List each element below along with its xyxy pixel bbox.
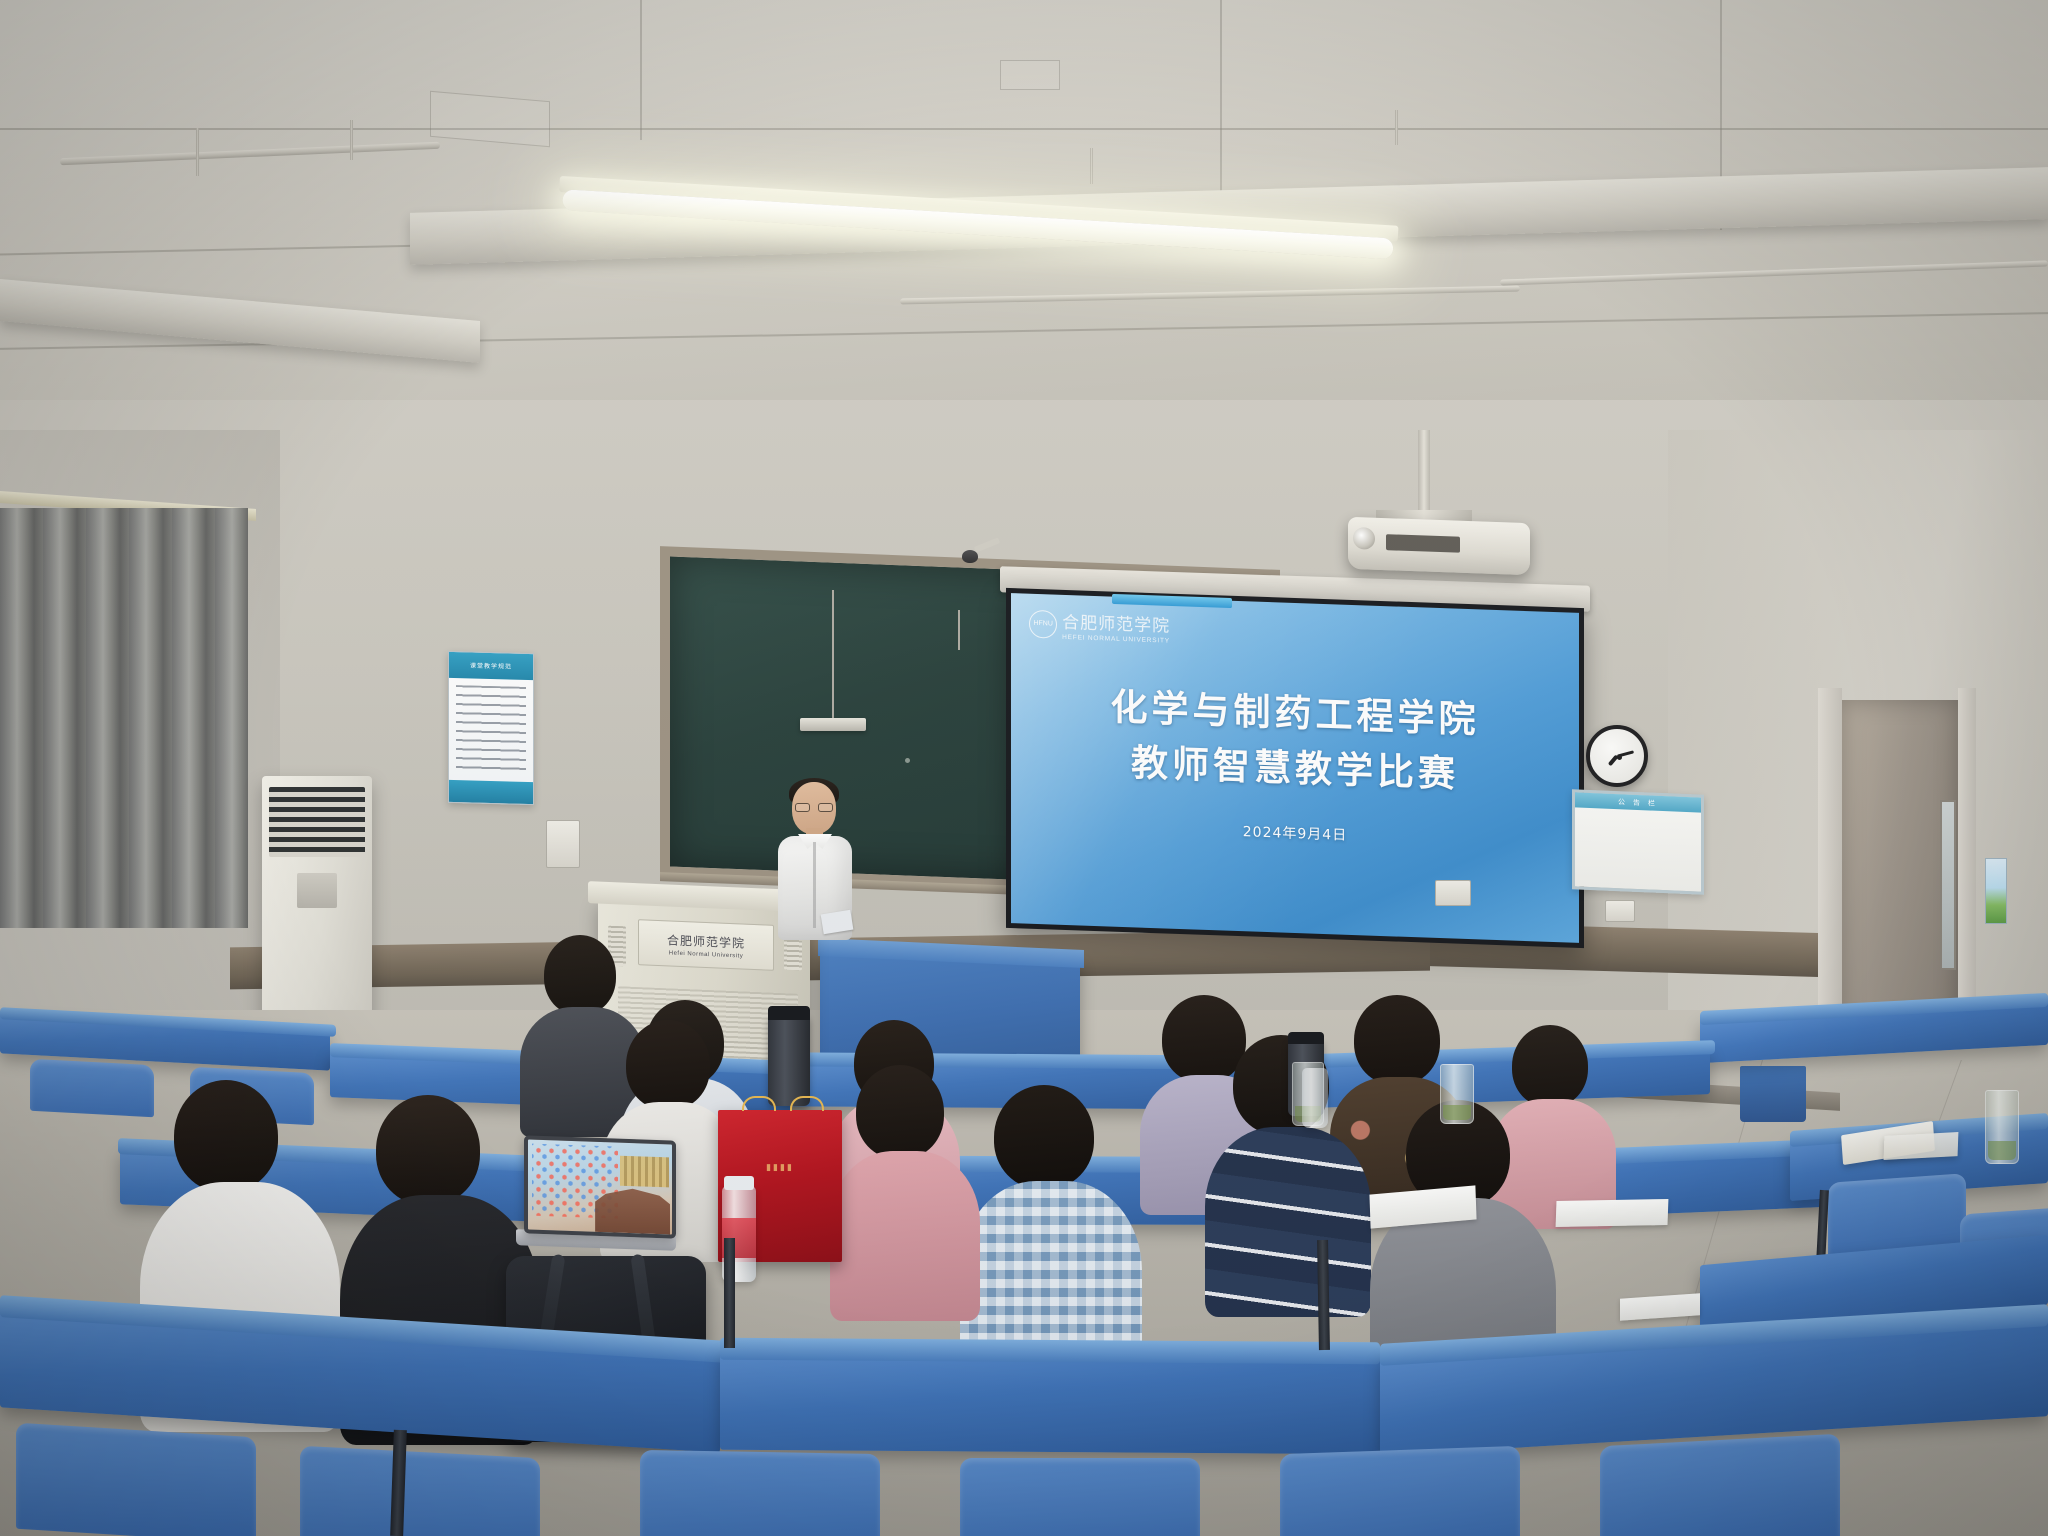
- university-seal-icon: HFNU: [1029, 609, 1057, 638]
- gift-bag-handle: [790, 1096, 824, 1111]
- gift-bag-handle: [742, 1096, 776, 1111]
- desk-row-front: [720, 1350, 1380, 1455]
- wall-clock: [1586, 725, 1648, 787]
- light-suspension-rod: [196, 128, 199, 176]
- eraser-pole: [958, 610, 960, 650]
- aircon-grille: [269, 787, 366, 857]
- seat-back[interactable]: [960, 1458, 1200, 1536]
- desk-edge: [720, 1338, 1380, 1365]
- eraser-pole: [832, 590, 834, 720]
- water-bottle[interactable]: [1302, 1068, 1328, 1128]
- ceiling-seam: [1220, 0, 1222, 200]
- aircon-display-panel[interactable]: [297, 873, 337, 908]
- seat-back[interactable]: [30, 1059, 154, 1117]
- projection-screen: HFNU 合肥师范学院 HEFEI NORMAL UNIVERSITY 化学与制…: [1006, 588, 1584, 948]
- attendee-head: [1354, 995, 1440, 1085]
- classroom-scene: HFNU 合肥师范学院 HEFEI NORMAL UNIVERSITY 化学与制…: [0, 0, 2048, 1536]
- chalk-mark: [905, 758, 910, 763]
- wall-regulations-poster: 课堂教学规范: [448, 651, 534, 805]
- poster-body-text: [456, 685, 527, 774]
- ceiling-seam: [640, 0, 642, 140]
- attendee-head: [1512, 1025, 1588, 1107]
- poster-heading: 课堂教学规范: [449, 652, 533, 680]
- clock-center-pin: [1617, 755, 1622, 760]
- wall-poster-small: [1985, 858, 2007, 924]
- gift-bag-logo: ▮▮▮▮: [766, 1162, 794, 1173]
- wall-control-panel[interactable]: [546, 820, 580, 868]
- recycle-bin[interactable]: [1740, 1066, 1806, 1122]
- vacuum-flask[interactable]: [768, 1016, 810, 1106]
- slide-body: 化学与制药工程学院 教师智慧教学比赛 2024年9月4日: [1011, 676, 1579, 853]
- slide-logo-cn: 合肥师范学院: [1062, 613, 1170, 637]
- tea-jar[interactable]: [1985, 1090, 2019, 1164]
- seat-back[interactable]: [1280, 1446, 1520, 1536]
- attendee-head: [544, 935, 616, 1015]
- wallpaper-window-pattern: [620, 1155, 669, 1187]
- seal-text: HFNU: [1033, 620, 1052, 628]
- open-book-page: [1884, 1132, 1959, 1160]
- slide-date: 2024年9月4日: [1011, 813, 1579, 853]
- light-suspension-rod: [350, 120, 353, 160]
- light-suspension-rod: [1395, 110, 1398, 145]
- desk-leg: [1317, 1240, 1330, 1350]
- attendee-head: [1162, 995, 1246, 1083]
- attendee-head: [994, 1085, 1094, 1189]
- window-curtain[interactable]: [0, 508, 248, 928]
- vacuum-flask-lid: [768, 1006, 810, 1020]
- seat-back[interactable]: [16, 1423, 256, 1536]
- seat-back[interactable]: [300, 1446, 540, 1536]
- attendee-head: [376, 1095, 480, 1205]
- presentation-slide: HFNU 合肥师范学院 HEFEI NORMAL UNIVERSITY 化学与制…: [1011, 593, 1579, 943]
- blackboard-eraser[interactable]: [800, 718, 866, 731]
- attendee-head: [856, 1065, 944, 1159]
- laptop-screen[interactable]: [524, 1135, 676, 1238]
- desk-leg: [724, 1238, 735, 1348]
- tea-jar[interactable]: [1440, 1064, 1474, 1124]
- paper-stack[interactable]: [1556, 1199, 1669, 1227]
- poster-footer: [449, 779, 533, 804]
- vacuum-flask-lid: [1288, 1032, 1324, 1044]
- wall-socket[interactable]: [1605, 900, 1635, 922]
- projector-lens-icon: [1353, 527, 1375, 550]
- ceiling-seam: [0, 128, 2048, 130]
- attendee-body: [1205, 1127, 1371, 1317]
- lectern-nameplate: 合肥师范学院 Hefei Normal University: [638, 919, 774, 971]
- slide-university-logo: HFNU 合肥师范学院 HEFEI NORMAL UNIVERSITY: [1029, 607, 1170, 645]
- lectern-name-en: Hefei Normal University: [669, 950, 744, 959]
- air-conditioner[interactable]: [262, 776, 372, 1046]
- projector-ports: [1386, 534, 1460, 553]
- presenter-placket: [813, 842, 816, 928]
- presenter: [778, 782, 858, 952]
- attendee-body: [830, 1151, 980, 1321]
- attendee-head: [626, 1020, 710, 1110]
- lectern-name-cn: 合肥师范学院: [667, 931, 745, 951]
- notice-board: 公 告 栏: [1572, 789, 1704, 895]
- attendee-head: [174, 1080, 278, 1192]
- ceiling-fixture-box: [1000, 60, 1060, 90]
- seat-back[interactable]: [640, 1450, 880, 1536]
- water-bottle-cap: [724, 1176, 754, 1190]
- notice-board-heading: 公 告 栏: [1575, 792, 1701, 812]
- light-suspension-rod: [1090, 148, 1093, 184]
- door-window: [1940, 800, 1956, 970]
- wall-socket[interactable]: [1435, 880, 1471, 906]
- seat-back[interactable]: [1600, 1434, 1840, 1536]
- projector-mount-arm: [1418, 430, 1430, 520]
- ceiling-projector: [1348, 517, 1530, 575]
- glasses-icon: [795, 803, 833, 812]
